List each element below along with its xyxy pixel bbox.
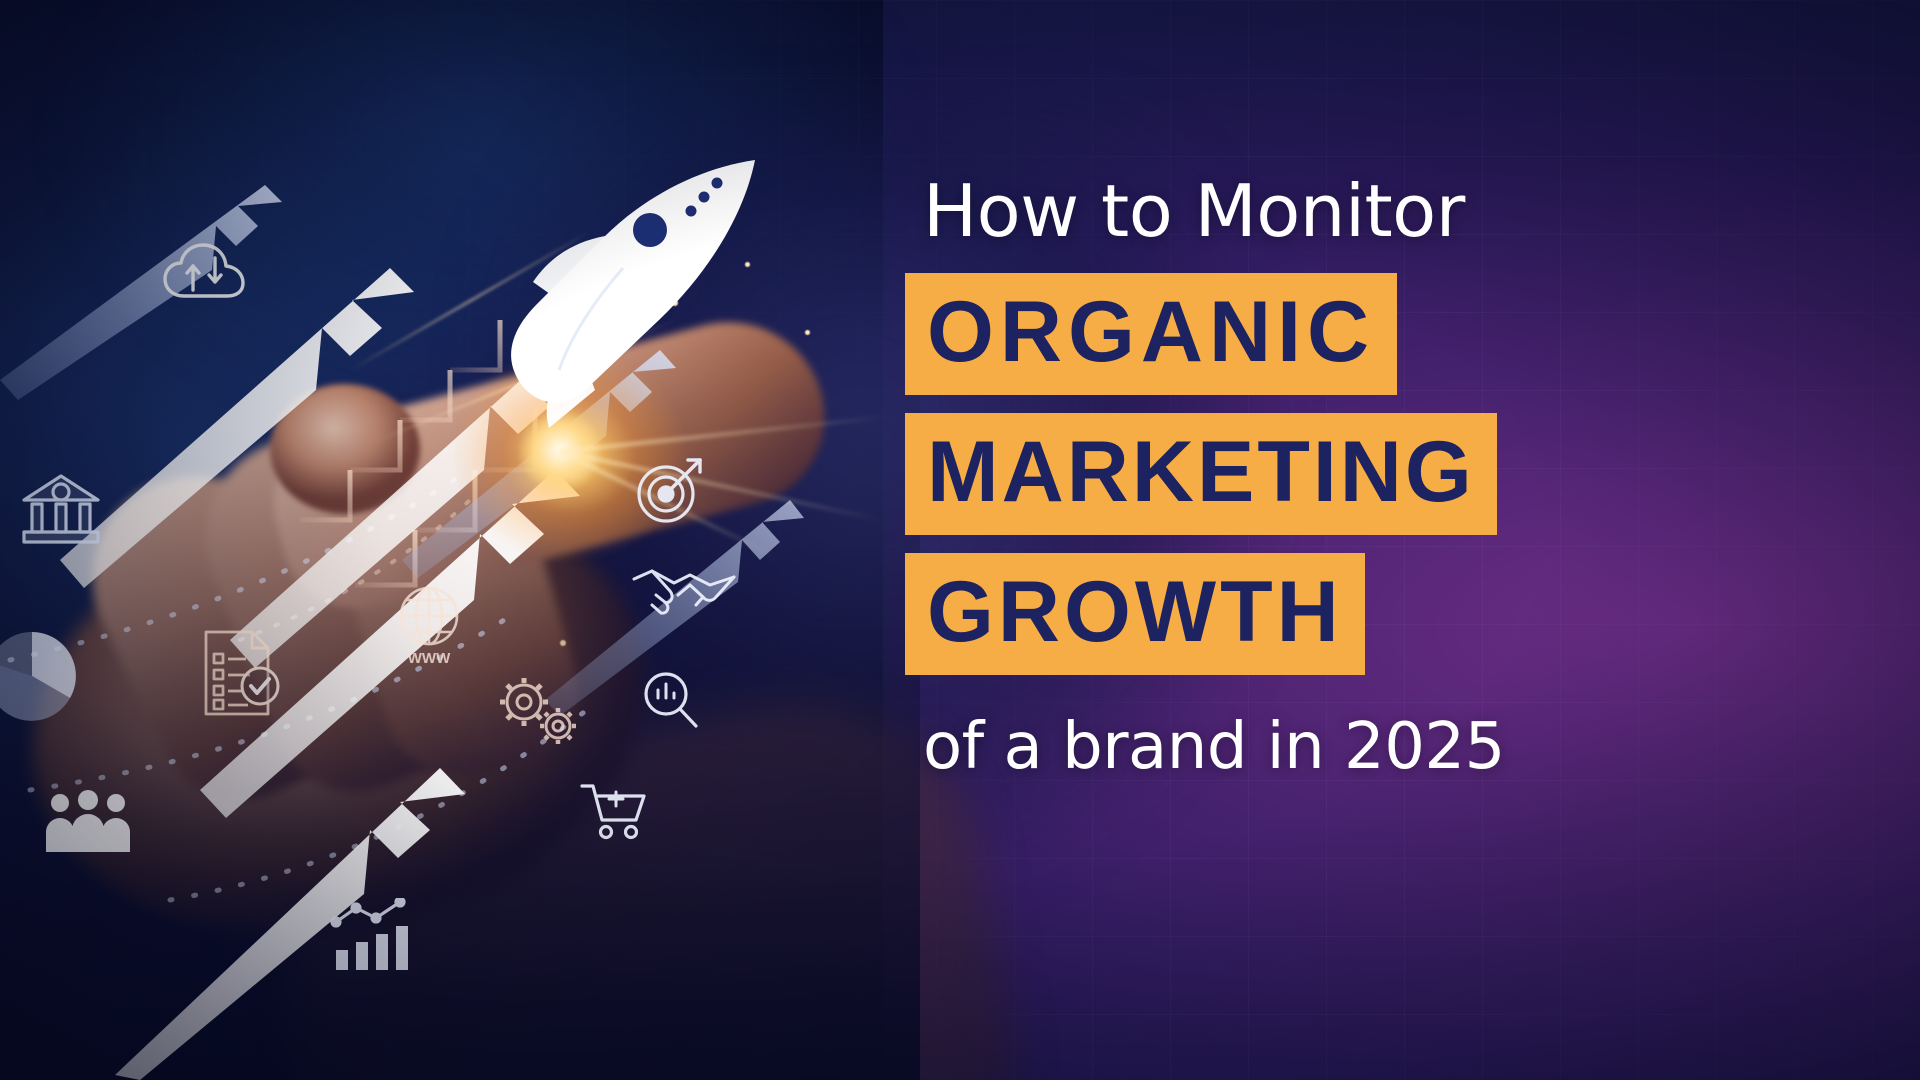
headline-line-1: How to Monitor — [923, 175, 1855, 247]
headline-highlight-marketing: MARKETING — [905, 413, 1497, 535]
hero-banner: WWW — [0, 0, 1920, 1080]
headline-block: How to Monitor ORGANIC MARKETING GROWTH … — [905, 175, 1855, 779]
headline-line-2: of a brand in 2025 — [923, 715, 1855, 779]
headline-highlight-growth: GROWTH — [905, 553, 1365, 675]
headline-highlight-organic: ORGANIC — [905, 273, 1397, 395]
